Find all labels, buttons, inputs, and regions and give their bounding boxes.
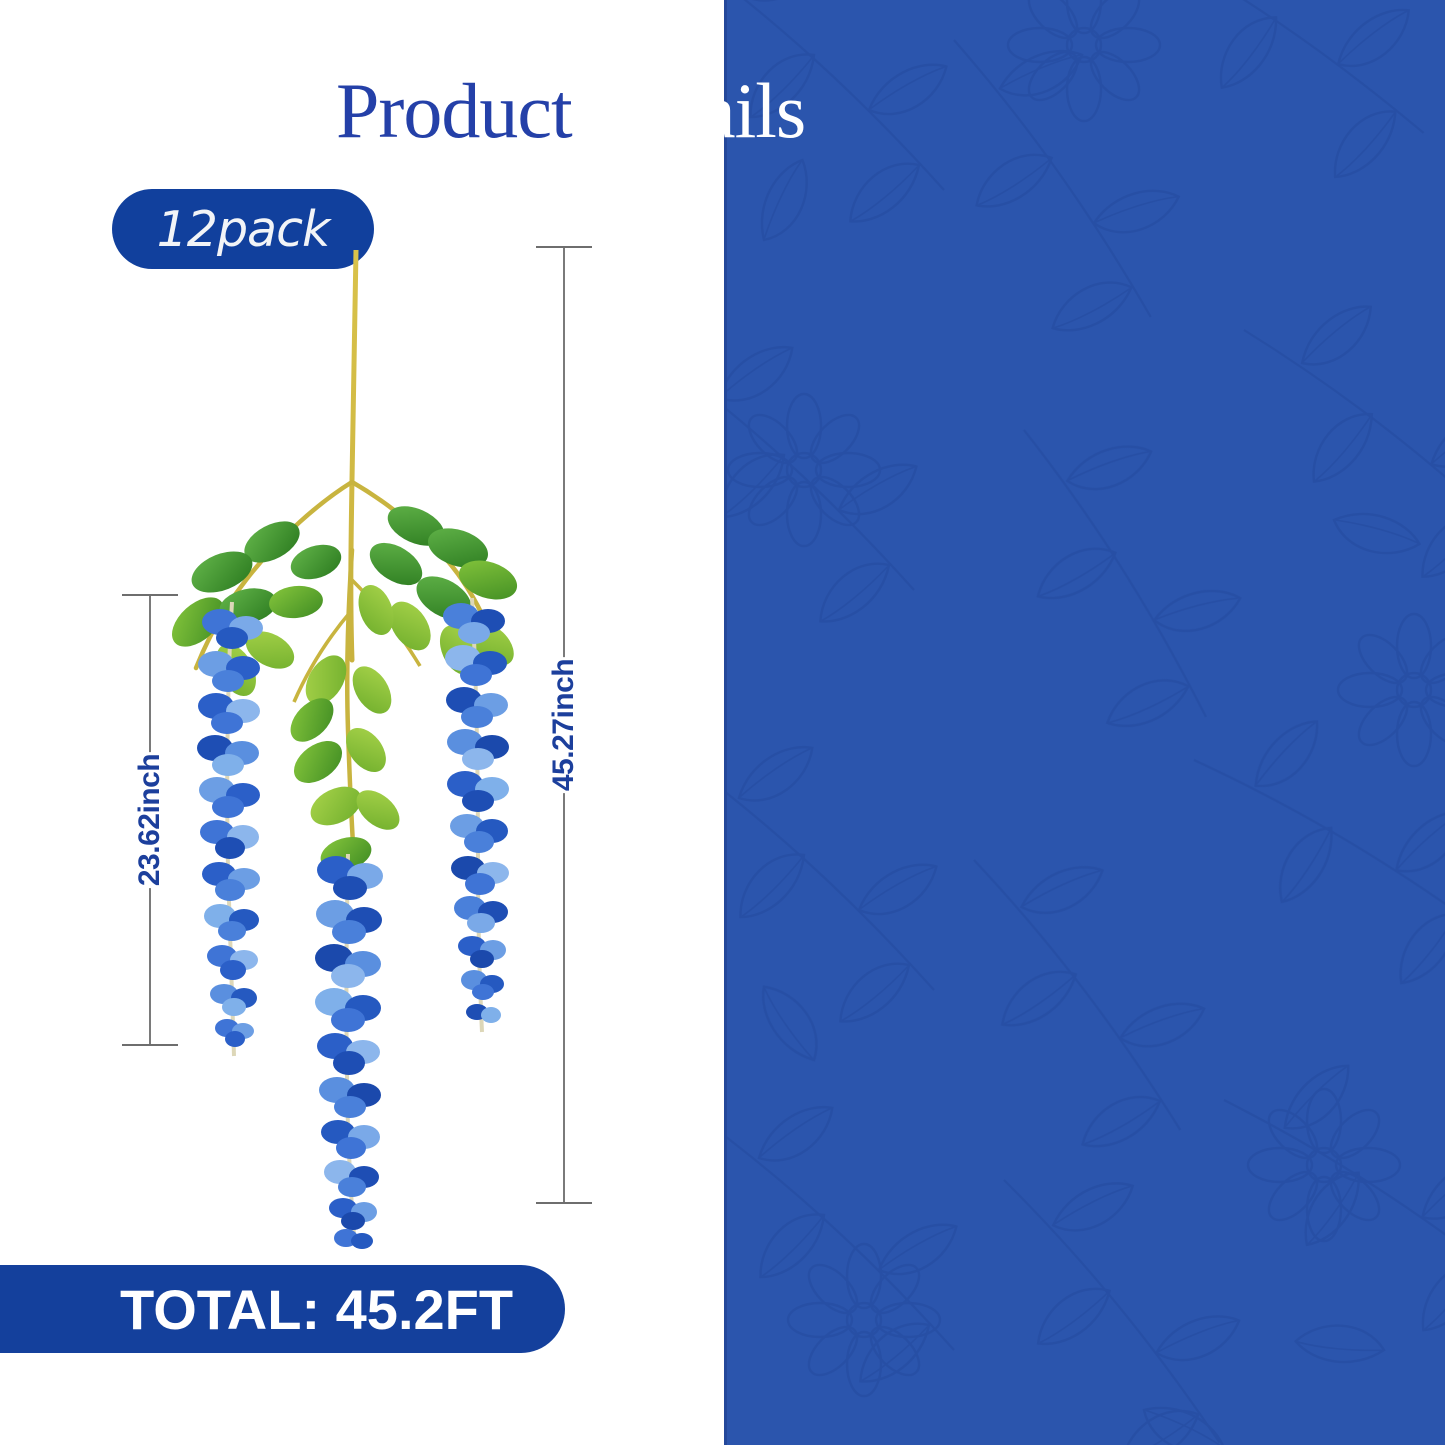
page-title: Product details xyxy=(336,72,805,150)
pack-quantity-label: 12pack xyxy=(157,201,330,258)
dimension-cap-bottom-left xyxy=(122,1044,178,1046)
total-length-label: TOTAL: 45.2FT xyxy=(120,1277,513,1342)
total-length-banner: TOTAL: 45.2FT xyxy=(0,1265,565,1353)
page-title-word-product: Product xyxy=(336,67,572,154)
page-title-word-details: details xyxy=(609,67,806,154)
flower-strand-right xyxy=(443,598,509,1032)
flower-strand-center xyxy=(315,854,383,1249)
product-details-infographic: REALISTIC LEAVES xyxy=(0,0,1445,1445)
dimension-label-left: 23.62inch xyxy=(129,752,171,888)
dimension-cap-bottom-right xyxy=(536,1202,592,1204)
floral-background-pattern xyxy=(724,0,1445,1445)
right-blue-panel: REALISTIC LEAVES xyxy=(724,0,1445,1445)
dimension-cap-top-left xyxy=(122,594,178,596)
flower-strand-left xyxy=(197,602,263,1056)
product-illustration-wisteria-vine xyxy=(140,250,560,1260)
dimension-cap-top-right xyxy=(536,246,592,248)
dimension-line-left: 23.62inch xyxy=(122,594,178,1046)
dimension-line-right: 45.27inch xyxy=(536,246,592,1204)
dimension-label-right: 45.27inch xyxy=(543,657,585,793)
wisteria-vine-graphic xyxy=(140,250,560,1260)
